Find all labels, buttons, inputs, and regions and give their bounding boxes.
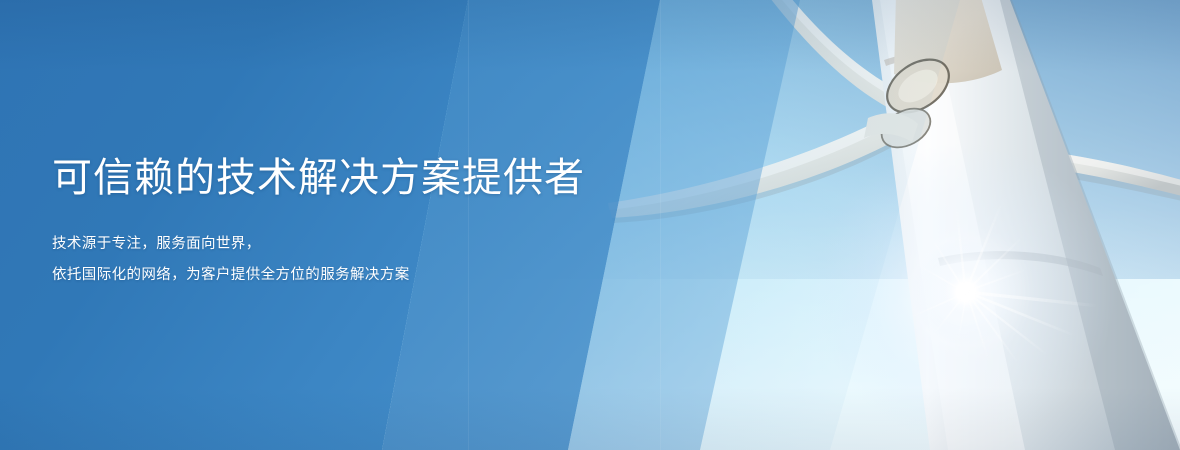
banner-subtitle-line-2: 依托国际化的网络，为客户提供全方位的服务解决方案 — [52, 265, 410, 285]
banner-headline: 可信赖的技术解决方案提供者 — [52, 154, 585, 202]
banner-copy: 可信赖的技术解决方案提供者 技术源于专注，服务面向世界， 依托国际化的网络，为客… — [52, 0, 672, 450]
hero-banner: 可信赖的技术解决方案提供者 技术源于专注，服务面向世界， 依托国际化的网络，为客… — [0, 0, 1180, 450]
banner-subtitle-line-1: 技术源于专注，服务面向世界， — [52, 234, 261, 254]
